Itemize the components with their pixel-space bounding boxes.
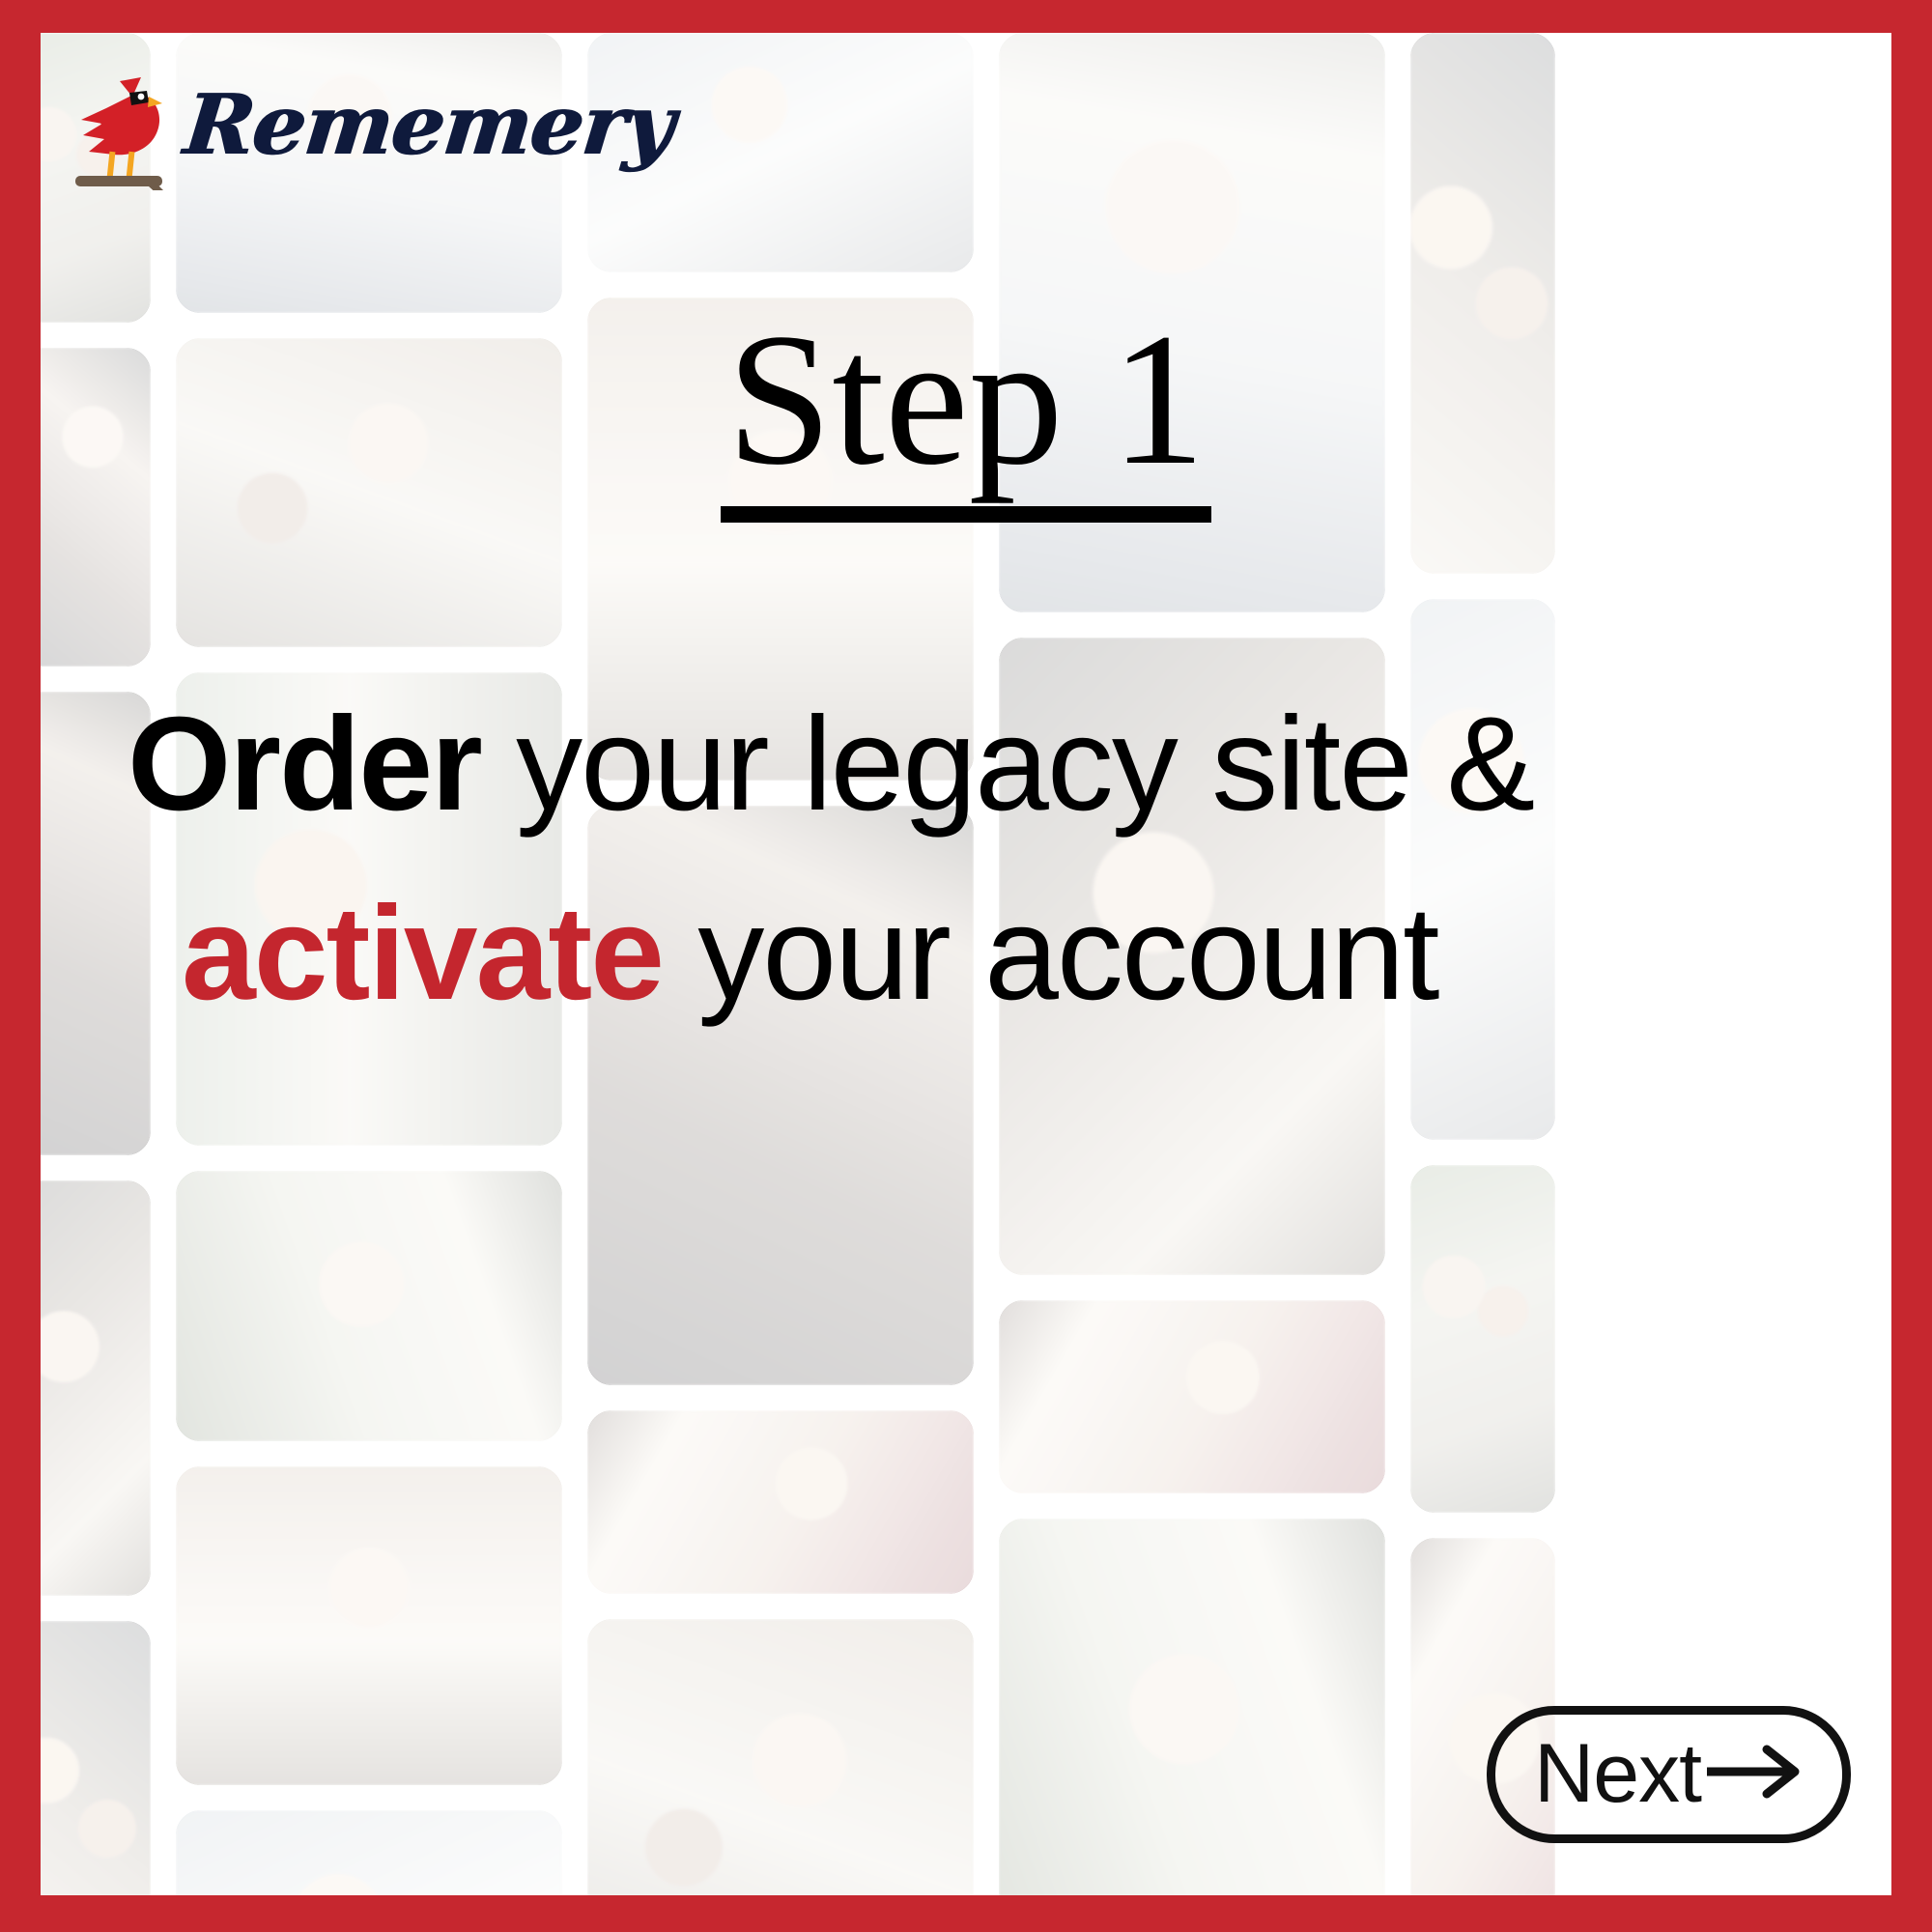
collage-photo bbox=[999, 1519, 1385, 1895]
headline-word-order: Order bbox=[128, 690, 481, 838]
collage-photo bbox=[41, 1180, 151, 1596]
slide-canvas: Rememery Step 1 Order your legacy site &… bbox=[41, 33, 1891, 1895]
step-title-text: Step 1 bbox=[721, 305, 1210, 523]
next-button[interactable]: Next bbox=[1487, 1706, 1851, 1843]
headline-block: Order your legacy site & activate your a… bbox=[99, 670, 1833, 1049]
collage-photo bbox=[999, 1300, 1385, 1493]
brand-wordmark: Rememery bbox=[180, 84, 676, 167]
arrow-right-icon bbox=[1703, 1744, 1809, 1804]
headline-line-2: activate your account bbox=[99, 860, 1833, 1049]
brand-logo[interactable]: Rememery bbox=[48, 60, 672, 190]
step-title: Step 1 bbox=[41, 305, 1891, 523]
collage-photo bbox=[587, 1619, 974, 1895]
collage-photo bbox=[1410, 1165, 1555, 1513]
headline-line-1-rest: your legacy site & bbox=[481, 690, 1534, 838]
collage-photo bbox=[587, 1410, 974, 1594]
collage-photo bbox=[176, 1171, 562, 1441]
headline-line-2-rest: your account bbox=[663, 879, 1437, 1028]
headline-line-1: Order your legacy site & bbox=[99, 670, 1833, 860]
collage-photo bbox=[176, 1466, 562, 1785]
next-button-label: Next bbox=[1534, 1732, 1701, 1815]
cardinal-bird-on-branch-icon bbox=[48, 60, 179, 190]
slide-root: Rememery Step 1 Order your legacy site &… bbox=[0, 0, 1932, 1932]
collage-photo bbox=[41, 1621, 151, 1895]
collage-photo bbox=[176, 1810, 562, 1895]
headline-word-activate: activate bbox=[182, 879, 663, 1028]
